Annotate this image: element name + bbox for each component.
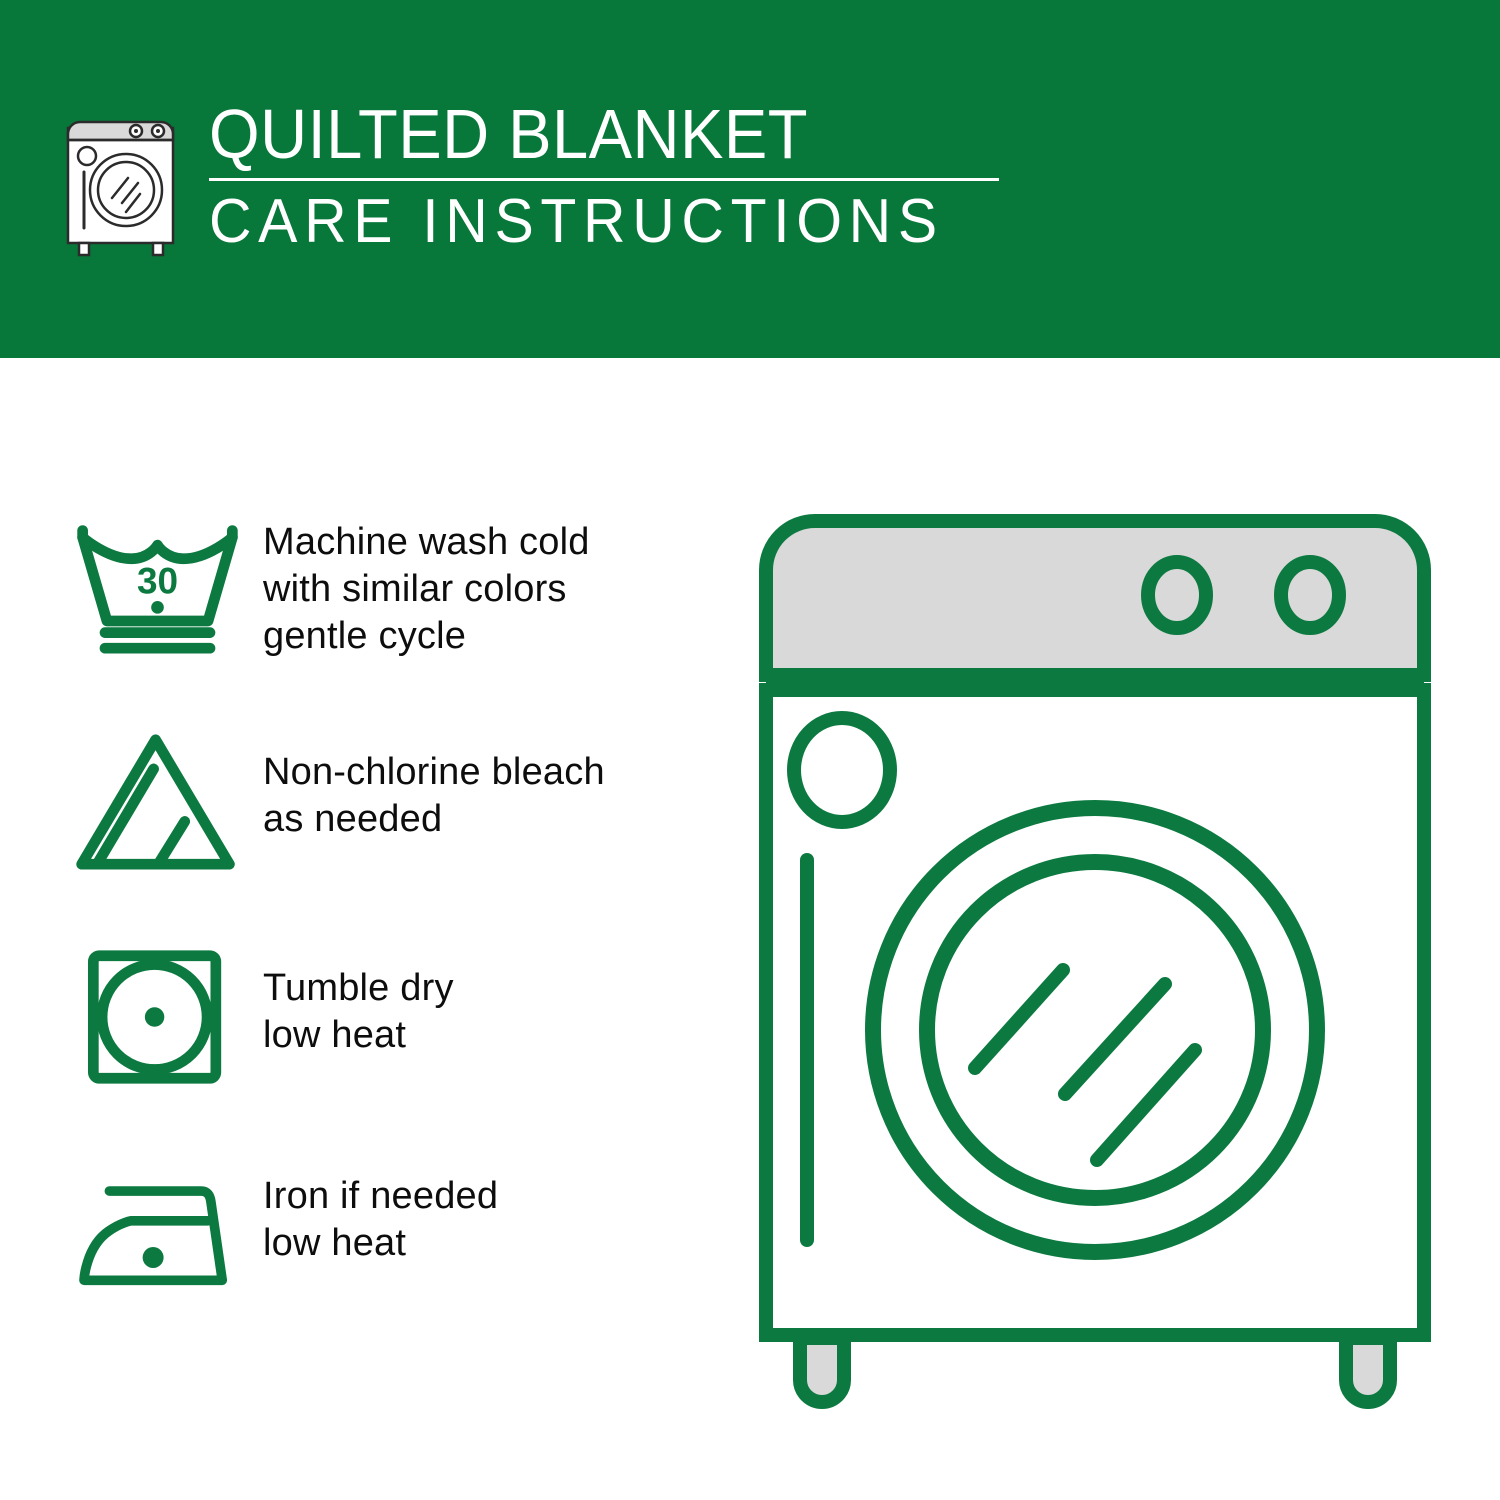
- care-label-line: Non-chlorine bleach: [263, 749, 730, 796]
- care-label-line: low heat: [263, 1220, 730, 1267]
- care-label-line: Tumble dry: [263, 965, 730, 1012]
- tumble-dry-low-icon: [70, 937, 245, 1097]
- header-content: QUILTED BLANKET CARE INSTRUCTIONS: [60, 96, 1060, 276]
- care-label-line: Machine wash cold: [263, 519, 730, 566]
- page-title: QUILTED BLANKET: [209, 98, 1000, 170]
- front-load-washing-machine-illustration: [745, 500, 1445, 1420]
- iron-low-heat-icon: [70, 1153, 245, 1313]
- care-label-line: Iron if needed: [263, 1173, 730, 1220]
- washing-machine-icon: [60, 100, 185, 260]
- care-label-line: with similar colors: [263, 566, 730, 613]
- care-row: 30 Machine wash cold with similar colors…: [70, 505, 730, 721]
- care-label: Non-chlorine bleach as needed: [245, 721, 730, 843]
- title-divider: [209, 178, 999, 181]
- care-label-line: gentle cycle: [263, 613, 730, 660]
- machine-leg: [1346, 1338, 1390, 1402]
- care-instructions-page: QUILTED BLANKET CARE INSTRUCTIONS 30: [0, 0, 1500, 1500]
- care-row: Non-chlorine bleach as needed: [70, 721, 730, 937]
- care-label: Tumble dry low heat: [245, 937, 730, 1059]
- non-chlorine-bleach-triangle-icon: [70, 721, 245, 881]
- care-label-line: as needed: [263, 796, 730, 843]
- care-label: Iron if needed low heat: [245, 1153, 730, 1267]
- care-label-line: low heat: [263, 1012, 730, 1059]
- header-title-block: QUILTED BLANKET CARE INSTRUCTIONS: [209, 96, 1060, 255]
- wash-tub-30-gentle-icon: 30: [70, 505, 245, 665]
- machine-leg: [800, 1338, 844, 1402]
- wash-temperature-value: 30: [137, 561, 178, 602]
- care-instruction-list: 30 Machine wash cold with similar colors…: [70, 505, 730, 1369]
- control-panel: [766, 521, 1424, 675]
- header-band: QUILTED BLANKET CARE INSTRUCTIONS: [0, 0, 1500, 358]
- care-label: Machine wash cold with similar colors ge…: [245, 505, 730, 660]
- page-subtitle: CARE INSTRUCTIONS: [209, 189, 1017, 255]
- care-row: Tumble dry low heat: [70, 937, 730, 1153]
- care-row: Iron if needed low heat: [70, 1153, 730, 1369]
